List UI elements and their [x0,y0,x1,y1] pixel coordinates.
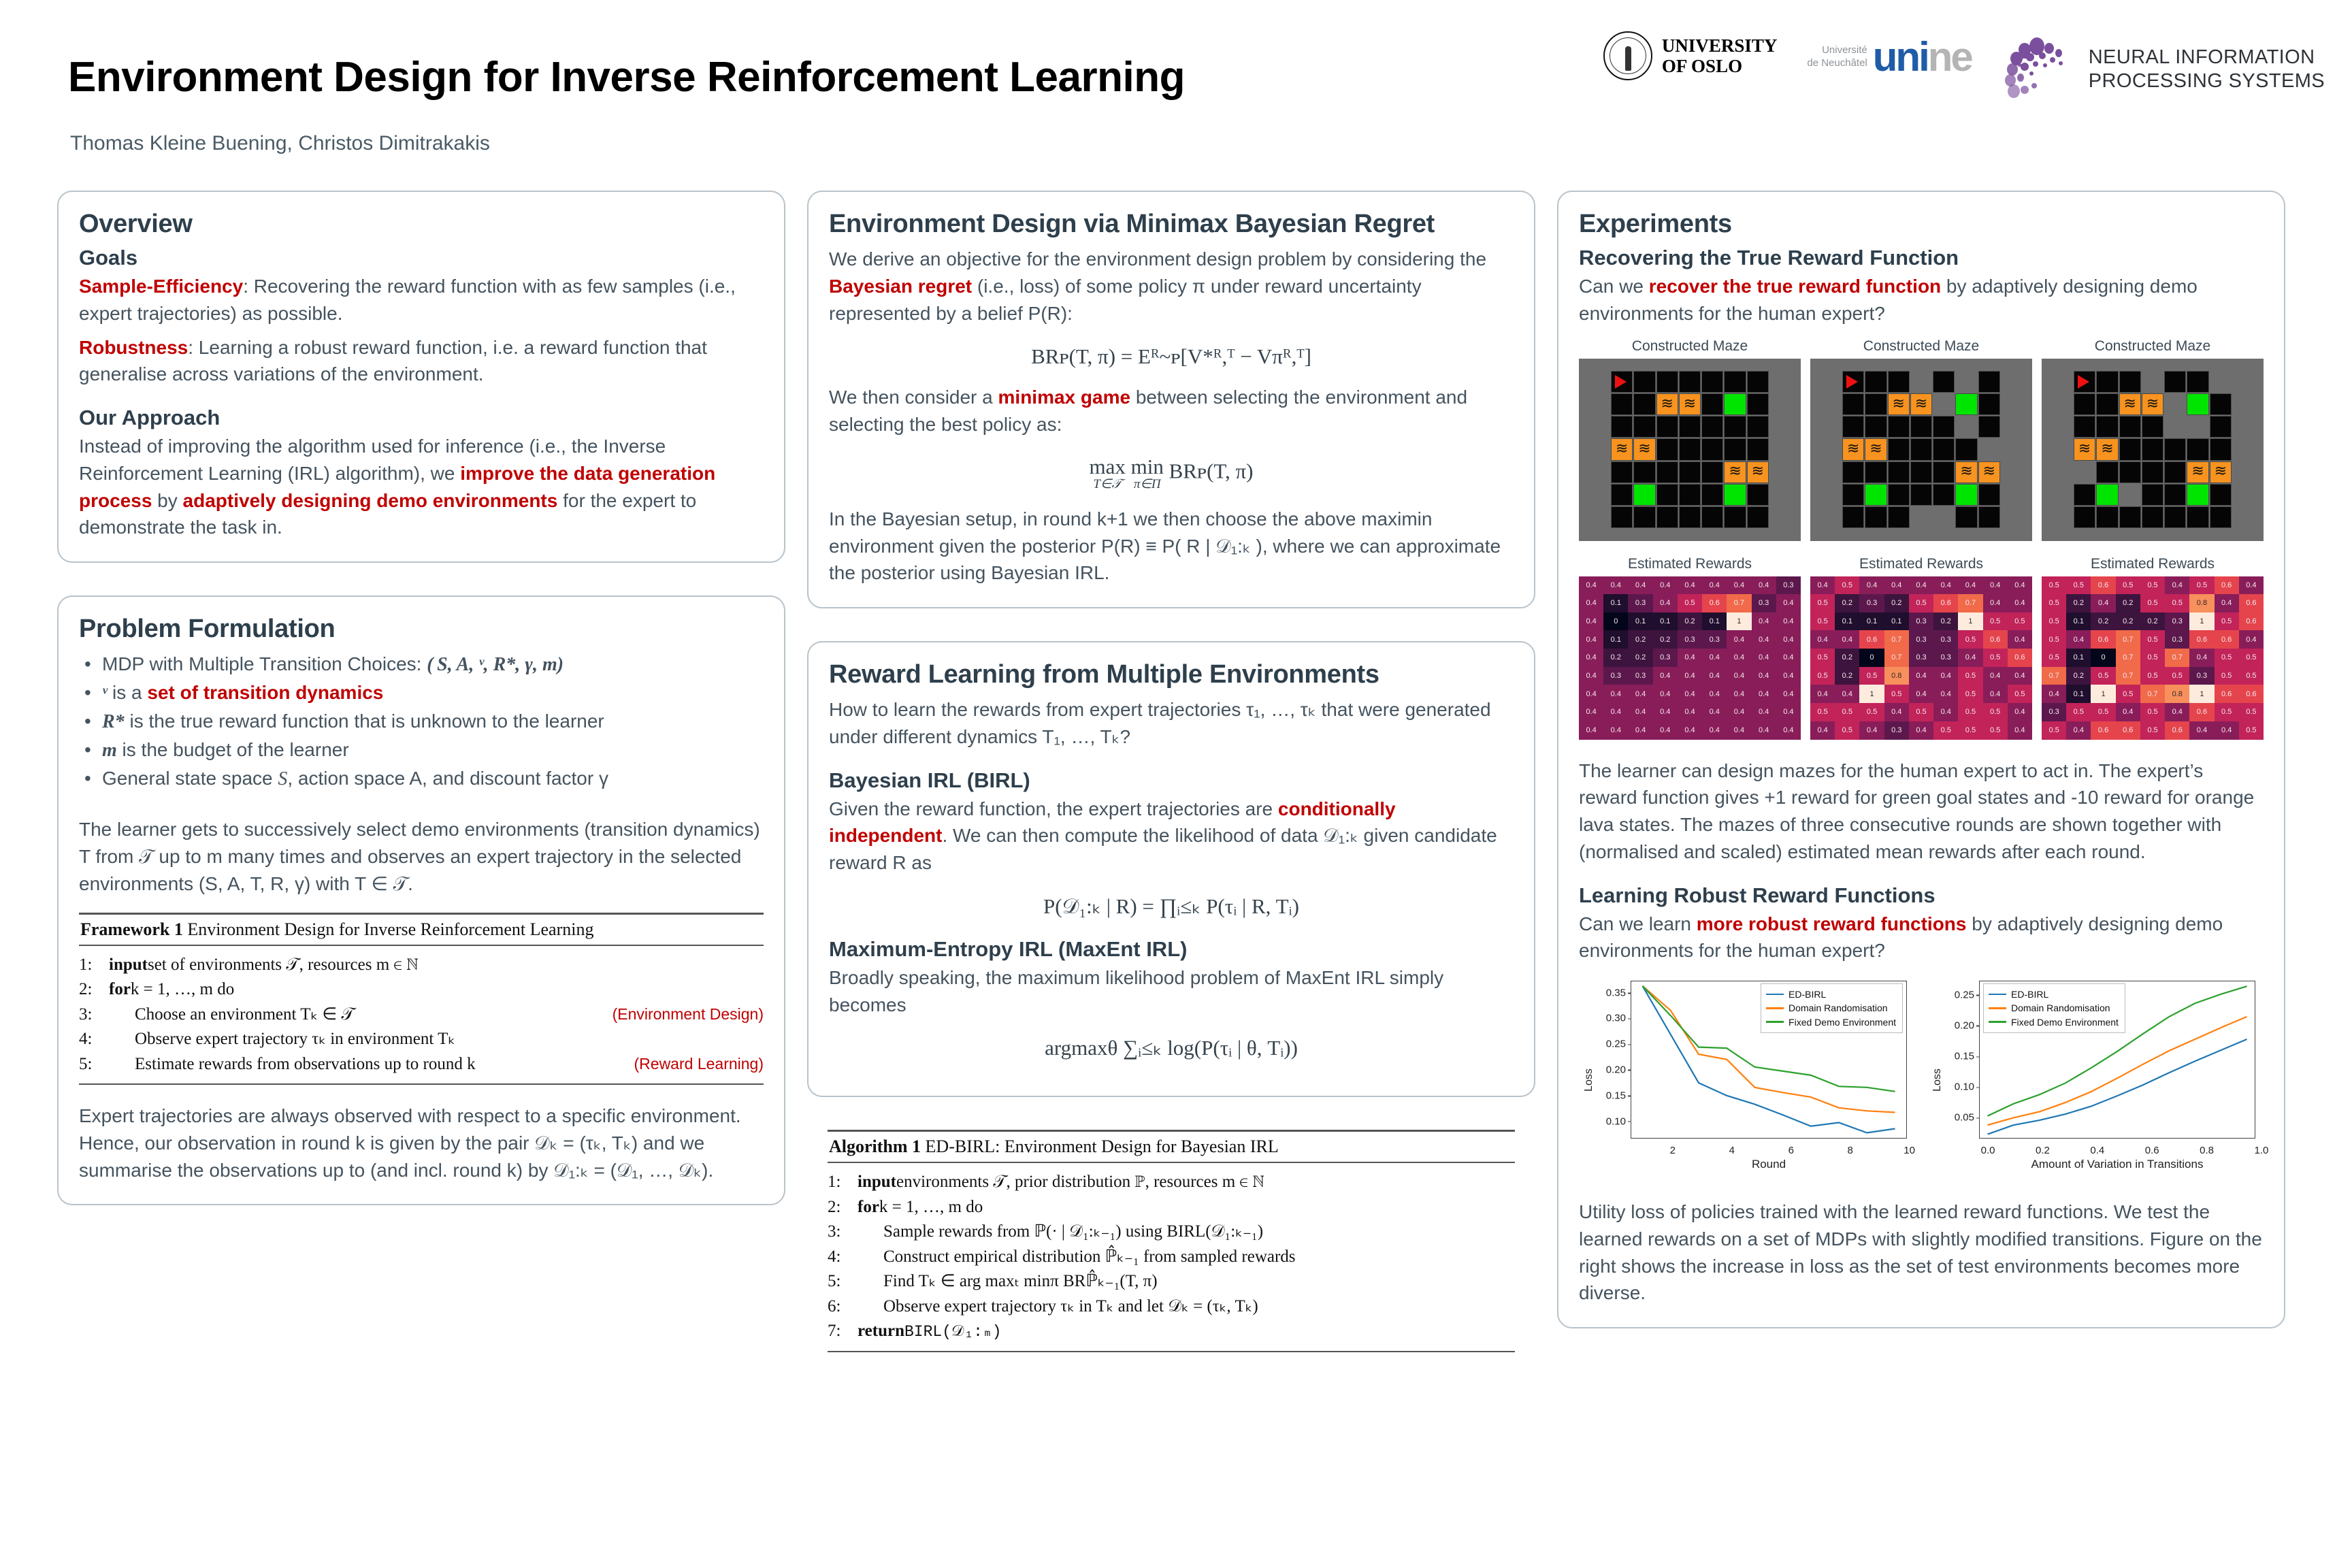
heatmap-cell: 0.2 [1835,667,1859,685]
heatmap-cell: 0.4 [1835,630,1859,649]
oslo-line-2: OF OSLO [1662,56,1778,76]
heatmap-cell: 0 [1603,612,1628,631]
heatmap-cell: 0.4 [2066,721,2091,740]
algorithm-line: 6:Observe expert trajectory τₖ in Tₖ and… [828,1294,1515,1320]
heatmap-cell: 0 [2091,649,2115,667]
heatmap-cell: 0.6 [2008,649,2032,667]
maze-cell-floor [1747,438,1769,460]
algorithm-line-num: 3: [828,1220,857,1245]
unine-sub-line-1: Université [1807,44,1867,57]
constructed-maze-row: Constructed Maze Constructed Maze Constr… [1579,338,2264,541]
heatmap-cell: 0.4 [2008,721,2032,740]
chart-x-tick: 6 [1788,1145,1794,1156]
framework-line: 2:for k = 1, …, m do [79,977,764,1002]
maze-cell-floor [1747,506,1769,528]
bullet-1-highlight: set of transition dynamics [147,682,383,703]
heatmap-cell: 0.3 [1933,649,1958,667]
maze-figure-1: Constructed Maze [1579,338,1801,541]
estimated-rewards-row: Estimated Rewards 0.40.40.40.40.40.40.40… [1579,556,2264,740]
heatmap-cell: 0.5 [2042,576,2066,595]
heatmap-cell: 0.7 [1727,594,1751,612]
legend-label: ED-BIRL [1788,987,1826,1001]
authors-line: Thomas Kleine Buening, Christos Dimitrak… [70,132,490,155]
maze-cell-floor [1656,461,1678,483]
maze-cell-floor [2164,438,2186,460]
maze-cell-lava [2210,461,2232,483]
heatmap-cell: 0.5 [2215,703,2239,721]
loss-vs-round-chart: Loss0.100.150.200.250.300.35246810RoundE… [1579,974,1915,1186]
poster-root: Environment Design for Inverse Reinforce… [0,0,2352,1568]
heatmap-cell: 0.7 [1884,649,1909,667]
bayesian-regret-equation: BRᴘ(T, π) = Eᴿ~ᴘ[V*ᴿ,ᵀ − Vπᴿ,ᵀ] [829,344,1514,369]
maze-cell-lava [1888,393,1910,415]
minimax-p1-highlight: Bayesian regret [829,276,972,297]
legend-swatch [1766,1007,1784,1009]
heatmap-cell: 0.4 [1653,721,1678,740]
heatmap-cell: 0.4 [1810,721,1835,740]
heatmap-cell: 0.5 [2066,576,2091,595]
algorithm-1-lines: 1:input environments 𝒯, prior distributi… [828,1163,1515,1351]
heatmap-cell: 0.4 [1752,703,1776,721]
heatmap-cell: 0.4 [1603,721,1628,740]
heatmap-cell: 0.4 [1752,630,1776,649]
rewards-caption-2: Estimated Rewards [1810,556,2032,572]
heatmap-cell: 0.4 [1727,630,1751,649]
chart-x-tick: 1.0 [2255,1145,2269,1156]
heatmap-cell: 0.4 [1628,576,1652,595]
heatmap-cell: 0.3 [1776,576,1801,595]
maze-cell-lava [1611,438,1633,460]
approach-highlight-2: adaptively designing demo environments [183,490,558,511]
maze-cell-floor [1865,461,1886,483]
maze-cell-lava [2074,438,2095,460]
heatmap-cell: 0.6 [1933,594,1958,612]
approach-part-2: by [152,490,182,511]
minimax-card: Environment Design via Minimax Bayesian … [807,191,1535,608]
loss-vs-variation-chart: Loss0.050.100.150.200.250.00.20.40.60.81… [1927,974,2264,1186]
heatmap-cell: 0.2 [2116,594,2140,612]
heatmap-cell: 0.4 [1776,721,1801,740]
unine-subtext: Université de Neuchâtel [1807,44,1867,70]
maze-cell-floor [1701,484,1723,506]
maze-cell-lava [1842,438,1864,460]
chart-series-line [1987,1039,2247,1134]
list-item: MDP with Multiple Transition Choices: ( … [79,651,764,679]
heatmap-cell: 0.5 [2140,721,2165,740]
heatmap-cell: 0.3 [1678,630,1702,649]
heatmap-cell: 0.5 [1810,667,1835,685]
maze-cell-floor [1679,438,1701,460]
heatmap-cell: 0.5 [1835,721,1859,740]
list-item: m is the budget of the learner [79,736,764,765]
heatmap-cell: 0.4 [1727,685,1751,703]
heatmap-cell: 0.7 [2140,685,2165,703]
framework-line: 3:Choose an environment Tₖ ∈ 𝒯(Environme… [79,1002,764,1028]
maze-cell-floor [1978,484,2000,506]
heatmap-cell: 0.4 [1933,703,1958,721]
legend-swatch [1989,1007,2006,1009]
maze-grid-1 [1611,371,1769,529]
maze-frame-2 [1810,359,2032,541]
poster-header: Environment Design for Inverse Reinforce… [0,0,2352,191]
heatmap-cell: 0.4 [1933,667,1958,685]
maze-cell-floor [1888,438,1910,460]
maze-cell-start [2074,371,2095,393]
maze-cell-wall [2210,371,2232,393]
maze-cell-wall [1978,438,2000,460]
maze-cell-floor [2096,371,2118,393]
maze-cell-floor [1656,506,1678,528]
heatmap-cell: 0.1 [2066,649,2091,667]
heatmap-cell: 0.4 [2165,576,2189,595]
heatmap-cell: 0.3 [1933,630,1958,649]
heatmap-cell: 0.6 [2215,576,2239,595]
maze-caption-3: Constructed Maze [2042,338,2264,355]
maze-cell-lava [1679,393,1701,415]
approach-paragraph: Instead of improving the algorithm used … [79,433,764,541]
maze-cell-floor [1611,461,1633,483]
framework-line-text: Choose an environment Tₖ ∈ 𝒯 [109,1002,355,1028]
experiments-title: Experiments [1579,210,2264,239]
heatmap-cell: 0.4 [1702,576,1727,595]
maze-frame-3 [2042,359,2264,541]
framework-line: 4:Observe expert trajectory τₖ in enviro… [79,1027,764,1052]
maze-cell-floor [1978,371,2000,393]
heatmap-cell: 0.4 [1776,703,1801,721]
heatmap-cell: 0.6 [2239,594,2264,612]
heatmap-cell: 0.4 [1727,667,1751,685]
heatmap-cell: 0.4 [1702,649,1727,667]
heatmap-cell: 0.4 [1628,703,1652,721]
maxent-equation: argmaxθ ∑ᵢ≤ₖ log(P(τᵢ | θ, Tᵢ)) [829,1036,1514,1060]
minimax-paragraph-3: In the Bayesian setup, in round k+1 we t… [829,506,1514,587]
bullet-4-math: S [278,768,287,789]
maze-cell-floor [2074,393,2095,415]
poster-columns: Overview Goals Sample-Efficiency: Recove… [0,191,2352,1352]
legend-swatch [1766,1021,1784,1023]
rewards-caption-3: Estimated Rewards [2042,556,2264,572]
birl-paragraph: Given the reward function, the expert tr… [829,796,1514,877]
algorithm-line: 3:Sample rewards from ℙ(· | 𝒟₁:ₖ₋₁) usin… [828,1220,1515,1245]
heatmap-cell: 0.5 [2189,576,2214,595]
maze-cell-floor [1633,393,1655,415]
maze-cell-floor [1747,371,1769,393]
algorithm-line-keyword: return [857,1319,904,1344]
problem-title: Problem Formulation [79,615,764,644]
overview-card: Overview Goals Sample-Efficiency: Recove… [57,191,785,563]
heatmap-cell: 0.4 [1727,721,1751,740]
maze-cell-floor [1910,438,1932,460]
heatmap-cell: 0.5 [2140,594,2165,612]
column-right: Experiments Recovering the True Reward F… [1557,191,2285,1352]
framework-line-num: 2: [79,977,109,1002]
heatmap-cell: 0.4 [1579,721,1603,740]
maze-cell-wall [2187,416,2208,438]
heatmap-cell: 0.4 [2008,594,2032,612]
maze-cell-goal [1724,393,1746,415]
heatmap-cell: 0.4 [2008,667,2032,685]
chart-x-tick: 0.4 [2090,1145,2104,1156]
framework-line: 1:input set of environments 𝒯, resources… [79,953,764,978]
maze-cell-floor [1933,416,1955,438]
maze-cell-floor [1978,416,2000,438]
heatmap-cell: 0.4 [1958,576,1982,595]
heatmap-cell: 0.2 [1835,649,1859,667]
chart-y-tick: 0.15 [1955,1051,1974,1062]
heatmap-cell: 0.5 [2116,576,2140,595]
neurips-logo-text: NEURAL INFORMATION PROCESSING SYSTEMS [2089,46,2325,93]
heatmap-cell: 0.5 [1884,685,1909,703]
sec1-q-part-a: Can we [1579,276,1649,297]
algorithm-1-title: : Environment Design for Bayesian IRL [995,1137,1279,1156]
maze-caption-2: Constructed Maze [1810,338,2032,355]
heatmap-cell: 0.5 [2140,630,2165,649]
maze-cell-floor [1888,506,1910,528]
heatmap-cell: 0.5 [2042,721,2066,740]
chart-x-tick: 4 [1729,1145,1735,1156]
unine-wordmark: unine [1873,41,1972,73]
maxent-paragraph: Broadly speaking, the maximum likelihood… [829,964,1514,1019]
heatmap-cell: 1 [1859,685,1884,703]
maze-cell-floor [1656,438,1678,460]
heatmap-cell: 0.4 [1653,576,1678,595]
heatmap-cell: 0.7 [2165,649,2189,667]
heatmap-cell: 0.5 [1909,594,1933,612]
heatmap-cell: 0.6 [2215,630,2239,649]
heatmap-cell: 0.4 [1909,667,1933,685]
algorithm-line: 1:input environments 𝒯, prior distributi… [828,1170,1515,1195]
maze-cell-floor [2187,506,2208,528]
maze-cell-floor [2210,393,2232,415]
neurips-line-2: PROCESSING SYSTEMS [2089,69,2325,93]
algorithm-1-box: Algorithm 1 ED-BIRL: Environment Design … [828,1130,1515,1352]
heatmap-cell: 0.1 [1628,612,1652,631]
heatmap-cell: 0.3 [1884,721,1909,740]
maze-cell-lava [1633,438,1655,460]
heatmap-cell: 0.2 [1603,649,1628,667]
maze-cell-goal [1633,484,1655,506]
experiments-card: Experiments Recovering the True Reward F… [1557,191,2285,1328]
heatmap-cell: 0.7 [1884,630,1909,649]
chart-y-tick: 0.10 [1955,1081,1974,1093]
minimax-equation: maxT∈𝒯 minπ∈Π BRᴘ(T, π) [829,456,1514,491]
heatmap-cell: 0.7 [2116,667,2140,685]
heatmap-cell: 0.5 [2091,703,2115,721]
maze-cell-floor [2142,438,2163,460]
algorithm-line-text: Find Tₖ ∈ arg maxₜ minπ BRℙ̂ₖ₋₁(T, π) [857,1269,1158,1294]
heatmap-cell: 0.5 [1983,649,2008,667]
maze-cell-lava [2142,393,2163,415]
robust-rewards-question: Can we learn more robust reward function… [1579,911,2264,965]
maze-cell-lava [2119,393,2141,415]
maze-cell-floor [1910,461,1932,483]
algorithm-line-num: 4: [828,1245,857,1270]
maze-cell-floor [1656,371,1678,393]
maze-cell-goal [1724,484,1746,506]
heatmap-cell: 0.4 [2008,703,2032,721]
chart-x-tick: 0.2 [2036,1145,2050,1156]
chart-x-tick: 8 [1848,1145,1853,1156]
bullet-1-mid: is a [107,682,147,703]
heatmap-cell: 0.5 [2215,649,2239,667]
heatmap-cell: 0.4 [2189,649,2214,667]
heatmap-cell: 0.3 [1752,594,1776,612]
maze-cell-floor [2187,438,2208,460]
maze-cell-floor [1888,416,1910,438]
algorithm-1-header: Algorithm 1 ED-BIRL: Environment Design … [828,1132,1515,1162]
loss-charts-row: Loss0.100.150.200.250.300.35246810RoundE… [1579,974,2264,1186]
heatmap-cell: 0.4 [1752,612,1776,631]
heatmap-cell: 1 [2091,685,2115,703]
heatmap-cell: 0.4 [1579,594,1603,612]
maze-figure-3: Constructed Maze [2042,338,2264,541]
sec2-q-highlight: more robust reward functions [1697,913,1967,934]
heatmap-cell: 0.5 [1678,594,1702,612]
heatmap-cell: 0.5 [1810,703,1835,721]
framework-line-note: (Environment Design) [599,1003,764,1026]
heatmap-figure-1: Estimated Rewards 0.40.40.40.40.40.40.40… [1579,556,1801,740]
heatmap-cell: 0.4 [1653,703,1678,721]
heatmap-cell: 0.4 [1727,576,1751,595]
heatmap-cell: 0.7 [1958,594,1982,612]
maze-cell-floor [2164,461,2186,483]
heatmap-figure-2: Estimated Rewards 0.40.50.40.40.40.40.40… [1810,556,2032,740]
heatmap-cell: 0.5 [1933,721,1958,740]
legend-label: Domain Randomisation [1788,1001,1888,1015]
oslo-logo-text: UNIVERSITY OF OSLO [1662,35,1778,76]
maze-cell-floor [1910,484,1932,506]
maze-cell-wall [1933,393,1955,415]
maze-cell-floor [1611,484,1633,506]
maze-cell-floor [1679,371,1701,393]
goal-1-label: Sample-Efficiency [79,276,243,297]
maze-cell-wall [2164,393,2186,415]
heatmap-cell: 0.4 [1603,576,1628,595]
heatmap-cell: 0.1 [1653,612,1678,631]
heatmap-cell: 0.2 [1653,630,1678,649]
heatmap-cell: 0.6 [2189,703,2214,721]
maze-cell-lava [1865,438,1886,460]
maze-cell-floor [1865,506,1886,528]
heatmap-cell: 0.4 [1859,721,1884,740]
heatmap-cell: 0.7 [2116,630,2140,649]
maze-cell-floor [2096,416,2118,438]
heatmap-cell: 0.5 [1810,649,1835,667]
goal-2-label: Robustness [79,337,188,358]
heatmap-cell: 0.5 [2042,649,2066,667]
problem-paragraph: The learner gets to successively select … [79,816,764,897]
heatmap-cell: 0.2 [1678,612,1702,631]
algorithm-line-text: k = 1, …, m do [879,1195,983,1220]
maze-cell-floor [2210,416,2232,438]
bullet-4-pre: General state space [102,768,278,789]
heatmap-cell: 0.4 [1884,576,1909,595]
heatmap-cell: 0.5 [2165,667,2189,685]
maze-cell-start [1842,371,1864,393]
heatmap-cell: 0.4 [1983,594,2008,612]
maze-cell-floor [2210,484,2232,506]
maze-cell-lava [1978,461,2000,483]
recovering-reward-heading: Recovering the True Reward Function [1579,246,2264,270]
unine-sub-line-2: de Neuchâtel [1807,57,1867,70]
maze-cell-floor [2210,506,2232,528]
maze-cell-floor [2210,438,2232,460]
chart-x-tick: 10 [1904,1145,1915,1156]
heatmap-cell: 0.5 [1958,721,1982,740]
heatmap-cell: 0.3 [2165,612,2189,631]
maze-cell-floor [1888,371,1910,393]
maze-cell-lava [1955,461,1977,483]
heatmap-cell: 0.5 [1958,685,1982,703]
heatmap-cell: 0.4 [1678,703,1702,721]
heatmap-cell: 0.3 [2042,703,2066,721]
algorithm-line-num: 2: [828,1195,857,1220]
maze-cell-floor [1910,416,1932,438]
maze-cell-lava [1910,393,1932,415]
problem-formulation-card: Problem Formulation MDP with Multiple Tr… [57,595,785,1205]
maze-cell-floor [1955,438,1977,460]
heatmap-cell: 0.4 [1983,685,2008,703]
heatmap-cell: 0.4 [1702,685,1727,703]
chart-legend-item: Domain Randomisation [1766,1001,1896,1015]
heatmap-cell: 0.3 [1653,649,1678,667]
framework-line-text: Observe expert trajectory τₖ in environm… [109,1027,455,1052]
maze-cell-lava [1656,393,1678,415]
maze-cell-floor [2096,393,2118,415]
maze-cell-floor [2119,461,2141,483]
overview-title: Overview [79,210,764,239]
maze-cell-floor [2142,506,2163,528]
maze-grid-3 [2074,371,2232,529]
algorithm-line-text: Construct empirical distribution ℙ̂ₖ₋₁ f… [857,1245,1296,1270]
oslo-line-1: UNIVERSITY [1662,35,1778,56]
heatmap-cell: 0.4 [2008,630,2032,649]
heatmap-cell: 0.6 [2091,576,2115,595]
heatmap-cell: 0.3 [1628,594,1652,612]
maze-figure-2: Constructed Maze [1810,338,2032,541]
goal-sample-efficiency: Sample-Efficiency: Recovering the reward… [79,273,764,327]
heatmap-cell: 0.3 [1702,630,1727,649]
heatmap-cell: 0.4 [1653,667,1678,685]
heatmap-cell: 0.4 [1702,667,1727,685]
maze-cell-floor [2119,506,2141,528]
heatmap-cell: 0.4 [1752,576,1776,595]
heatmap-cell: 0.4 [1810,685,1835,703]
robust-rewards-paragraph: Utility loss of policies trained with th… [1579,1198,2264,1307]
heatmap-cell: 0.4 [1579,576,1603,595]
chart-y-tick: 0.35 [1606,987,1626,998]
maze-cell-floor [1701,506,1723,528]
maze-cell-wall [2119,484,2141,506]
heatmap-cell: 0.2 [1628,649,1652,667]
heatmap-cell: 0.6 [2091,721,2115,740]
heatmap-cell: 0.6 [1983,630,2008,649]
heatmap-cell: 0.4 [1727,703,1751,721]
heatmap-cell: 0.5 [2215,667,2239,685]
maze-cell-goal [1955,393,1977,415]
minimax-paragraph-1: We derive an objective for the environme… [829,246,1514,327]
maze-cell-floor [1978,393,2000,415]
heatmap-cell: 0.5 [1859,667,1884,685]
chart-y-tick: 0.20 [1955,1019,1974,1031]
algorithm-line-num: 6: [828,1294,857,1320]
framework-1-header: Framework 1 Environment Design for Inver… [79,915,764,945]
university-of-oslo-logo: UNIVERSITY OF OSLO [1603,31,1778,80]
heatmap-grid-2: 0.40.50.40.40.40.40.40.40.40.50.20.30.20… [1810,576,2032,740]
minimax-equation-tail: BRᴘ(T, π) [1169,459,1254,483]
heatmap-cell: 0.6 [2189,630,2214,649]
chart-legend-item: Domain Randomisation [1989,1001,2119,1015]
